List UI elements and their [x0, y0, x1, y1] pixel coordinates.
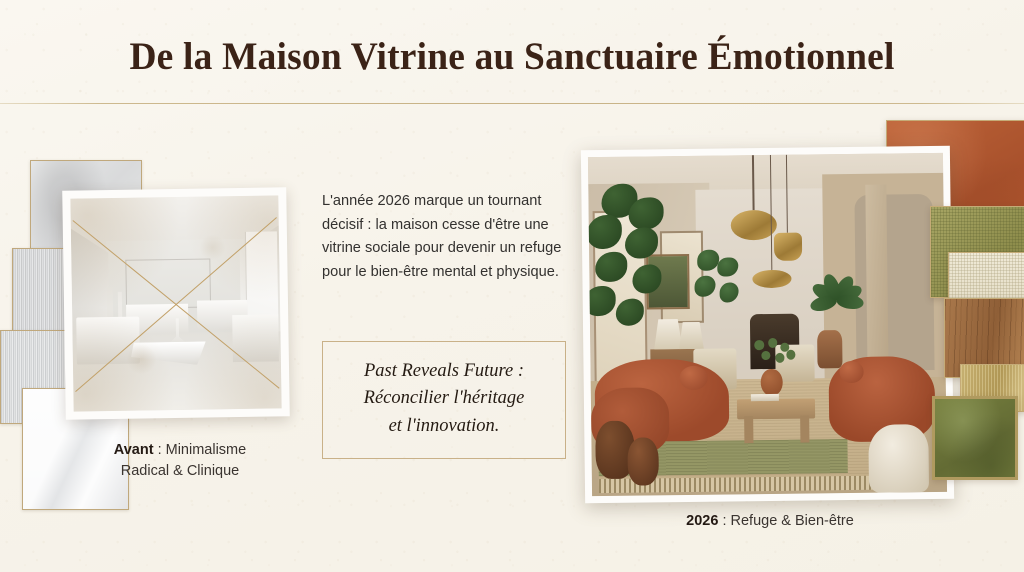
slide-canvas: De la Maison Vitrine au Sanctuaire Émoti…	[0, 0, 1024, 572]
quote-box: Past Reveals Future : Réconcilier l'héri…	[322, 341, 566, 459]
quote-line-3: et l'innovation.	[389, 416, 500, 436]
bolster-cushion-right	[839, 361, 864, 383]
ceramic-lamp-1	[654, 319, 683, 350]
coffee-table-leg-right	[801, 416, 810, 443]
bolster-cushion-left	[679, 366, 708, 390]
page-title: De la Maison Vitrine au Sanctuaire Émoti…	[20, 34, 1003, 79]
after-caption: 2026 : Refuge & Bien-être	[600, 513, 940, 529]
before-caption-rest: : Minimalisme	[154, 442, 247, 458]
coffee-table-leg-left	[744, 416, 753, 443]
before-photo	[70, 195, 281, 411]
ceramic-lamp-2	[679, 322, 704, 349]
before-photo-frame	[62, 187, 290, 419]
quote-line-2: Réconcilier l'héritage	[364, 388, 525, 408]
stacked-books	[751, 394, 779, 401]
after-photo-frame	[581, 146, 954, 503]
after-caption-rest: : Refuge & Bien-être	[718, 513, 853, 529]
boucle-armchair	[868, 424, 929, 493]
before-caption-bold: Avant	[114, 442, 154, 458]
round-terracotta-vase	[761, 368, 783, 395]
after-caption-bold: 2026	[686, 513, 718, 529]
before-caption-line2: Radical & Clinique	[121, 463, 239, 479]
stone-beam	[865, 184, 889, 381]
after-photo	[588, 153, 947, 496]
header-divider	[0, 103, 1024, 104]
terracotta-planter	[817, 330, 842, 368]
body-paragraph: L'année 2026 marque un tournant décisif …	[322, 190, 576, 285]
brass-pendant-3	[751, 155, 792, 291]
potted-plant-center	[692, 247, 746, 322]
before-caption: Avant : Minimalisme Radical & Clinique	[60, 440, 300, 481]
small-clay-urn	[627, 438, 660, 486]
quote-line-1: Past Reveals Future :	[364, 361, 524, 381]
cross-out-icon	[70, 195, 281, 411]
palm-plant	[806, 255, 867, 340]
right-swatch-ceramique-olive	[932, 396, 1018, 480]
